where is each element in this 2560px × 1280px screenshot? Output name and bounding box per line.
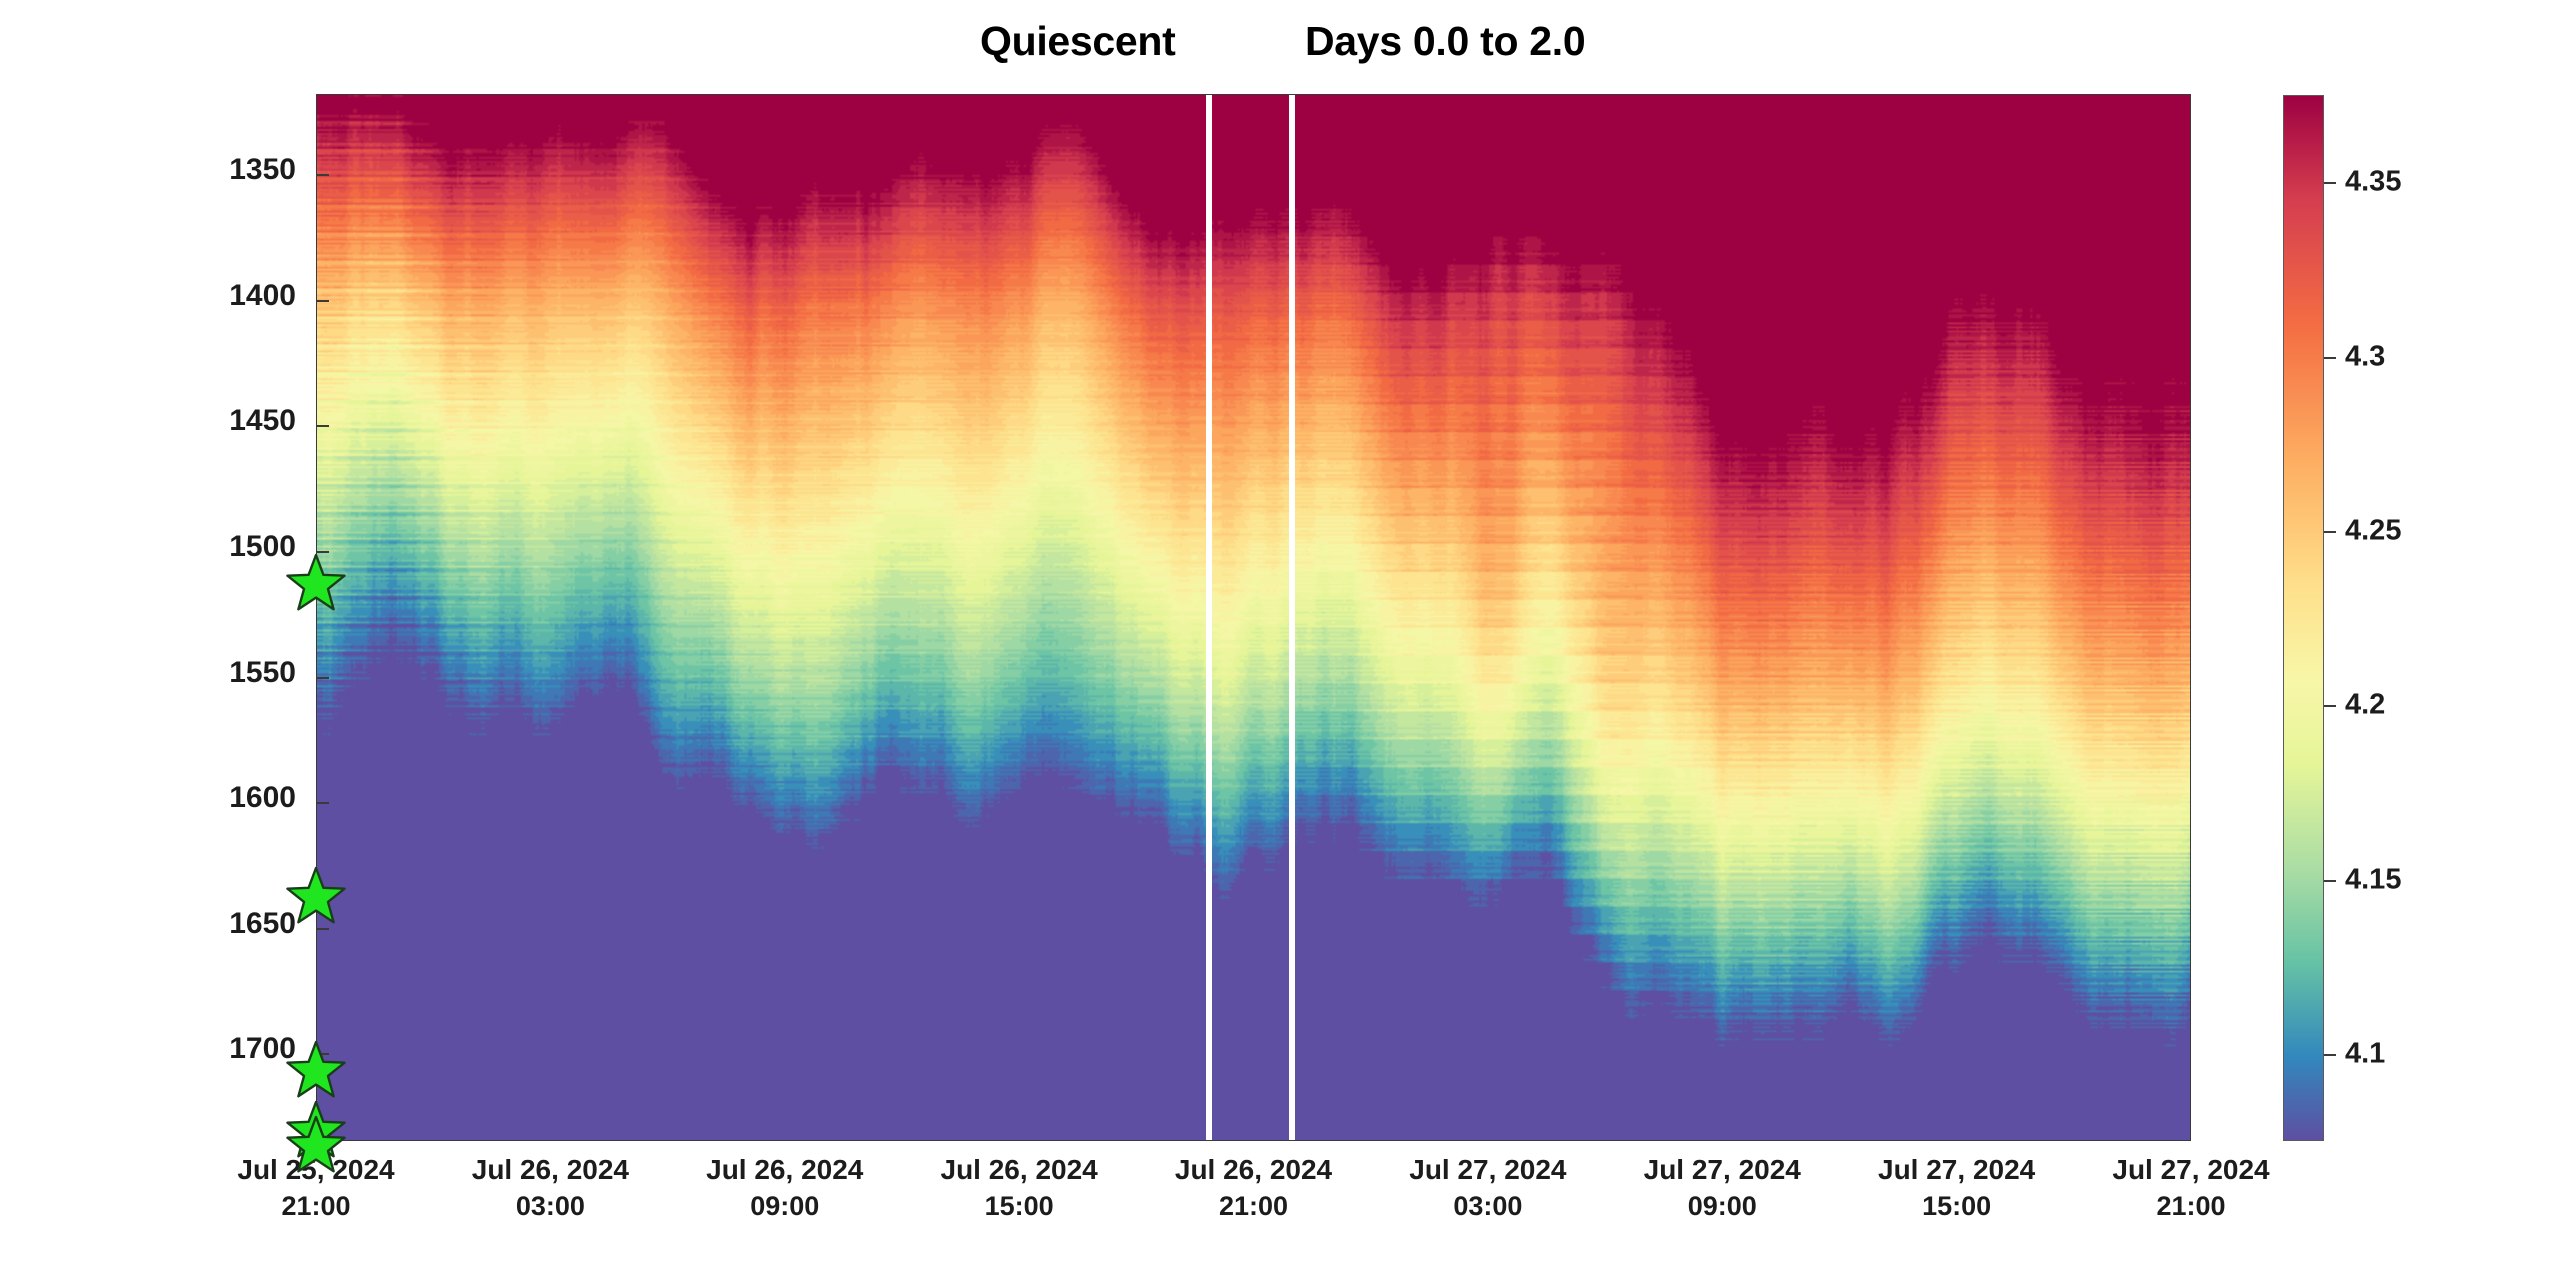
y-tick-label-text: 1400	[229, 279, 296, 312]
y-tick-mark	[316, 802, 329, 804]
event-line-2	[1289, 95, 1295, 1140]
heatmap-plot-area	[316, 94, 2191, 1141]
colorbar-tick-mark	[2324, 705, 2336, 707]
y-tick-label-text: 1700	[229, 1032, 296, 1065]
y-tick-label-text: 1450	[229, 404, 296, 437]
x-tick-label: Jul 27, 202415:00	[1827, 1152, 2087, 1225]
y-tick-label: 1400	[0, 279, 296, 313]
colorbar-tick-label: 4.1	[2345, 1037, 2385, 1070]
x-tick-time: 15:00	[1827, 1189, 2087, 1225]
colorbar	[2283, 95, 2324, 1141]
colorbar-tick-label: 4.2	[2345, 689, 2385, 722]
colorbar-tick-mark	[2324, 880, 2336, 882]
x-tick-time: 21:00	[2061, 1189, 2321, 1225]
colorbar-tick-label: 4.35	[2345, 166, 2401, 199]
y-tick-label: 1650	[0, 907, 296, 941]
x-tick-time: 03:00	[1358, 1189, 1618, 1225]
y-tick-label-text: 1500	[229, 530, 296, 563]
y-tick-mark	[316, 677, 329, 679]
x-tick-time: 15:00	[889, 1189, 1149, 1225]
x-tick-time: 09:00	[655, 1189, 915, 1225]
x-tick-time: 21:00	[1124, 1189, 1384, 1225]
y-tick-mark	[316, 300, 329, 302]
colorbar-tick-mark	[2324, 182, 2336, 184]
colorbar-tick-label: 4.3	[2345, 340, 2385, 373]
chart-title-primary: Quiescent	[980, 18, 1176, 65]
colorbar-tick-mark	[2324, 357, 2336, 359]
x-tick-label: Jul 26, 202415:00	[889, 1152, 1149, 1225]
y-tick-mark	[316, 551, 329, 553]
colorbar-tick-label: 4.15	[2345, 863, 2401, 896]
x-tick-time: 09:00	[1592, 1189, 1852, 1225]
x-tick-label: Jul 26, 202403:00	[420, 1152, 680, 1225]
y-tick-label-text: 1550	[229, 656, 296, 689]
y-tick-label: 1600	[0, 781, 296, 815]
y-tick-label: 1350	[0, 153, 296, 187]
x-tick-label: Jul 26, 202409:00	[655, 1152, 915, 1225]
colorbar-tick-label: 4.25	[2345, 514, 2401, 547]
x-tick-label: Jul 27, 202403:00	[1358, 1152, 1618, 1225]
colorbar-gradient	[2284, 96, 2323, 1140]
x-tick-time: 03:00	[420, 1189, 680, 1225]
x-tick-label: Jul 27, 202409:00	[1592, 1152, 1852, 1225]
x-tick-date: Jul 26, 2024	[472, 1154, 629, 1185]
y-tick-label: 1450	[0, 404, 296, 438]
y-tick-label: 1500	[0, 530, 296, 564]
x-tick-time: 21:00	[186, 1189, 446, 1225]
x-tick-date: Jul 27, 2024	[1878, 1154, 2035, 1185]
x-tick-date: Jul 26, 2024	[706, 1154, 863, 1185]
x-tick-label: Jul 27, 202421:00	[2061, 1152, 2321, 1225]
y-tick-mark	[316, 174, 329, 176]
y-tick-mark	[316, 425, 329, 427]
y-tick-label-text: 1650	[229, 907, 296, 940]
colorbar-tick-mark	[2324, 531, 2336, 533]
colorbar-tick-mark	[2324, 1054, 2336, 1056]
x-tick-date: Jul 27, 2024	[1644, 1154, 1801, 1185]
chart-title-secondary: Days 0.0 to 2.0	[1305, 18, 1585, 65]
y-tick-label-text: 1350	[229, 153, 296, 186]
x-tick-label: Jul 25, 202421:00	[186, 1152, 446, 1225]
y-tick-label: 1700	[0, 1032, 296, 1066]
x-tick-date: Jul 27, 2024	[2112, 1154, 2269, 1185]
figure-root: Quiescent Days 0.0 to 2.0 13501400145015…	[0, 0, 2560, 1280]
x-tick-label: Jul 26, 202421:00	[1124, 1152, 1384, 1225]
x-tick-date: Jul 25, 2024	[237, 1154, 394, 1185]
x-tick-date: Jul 26, 2024	[941, 1154, 1098, 1185]
heatmap-canvas	[317, 95, 2190, 1140]
x-tick-date: Jul 27, 2024	[1409, 1154, 1566, 1185]
y-tick-label-text: 1600	[229, 781, 296, 814]
y-tick-mark	[316, 928, 329, 930]
y-tick-mark	[316, 1053, 329, 1055]
y-tick-label: 1550	[0, 656, 296, 690]
event-line-1	[1206, 95, 1212, 1140]
x-tick-date: Jul 26, 2024	[1175, 1154, 1332, 1185]
